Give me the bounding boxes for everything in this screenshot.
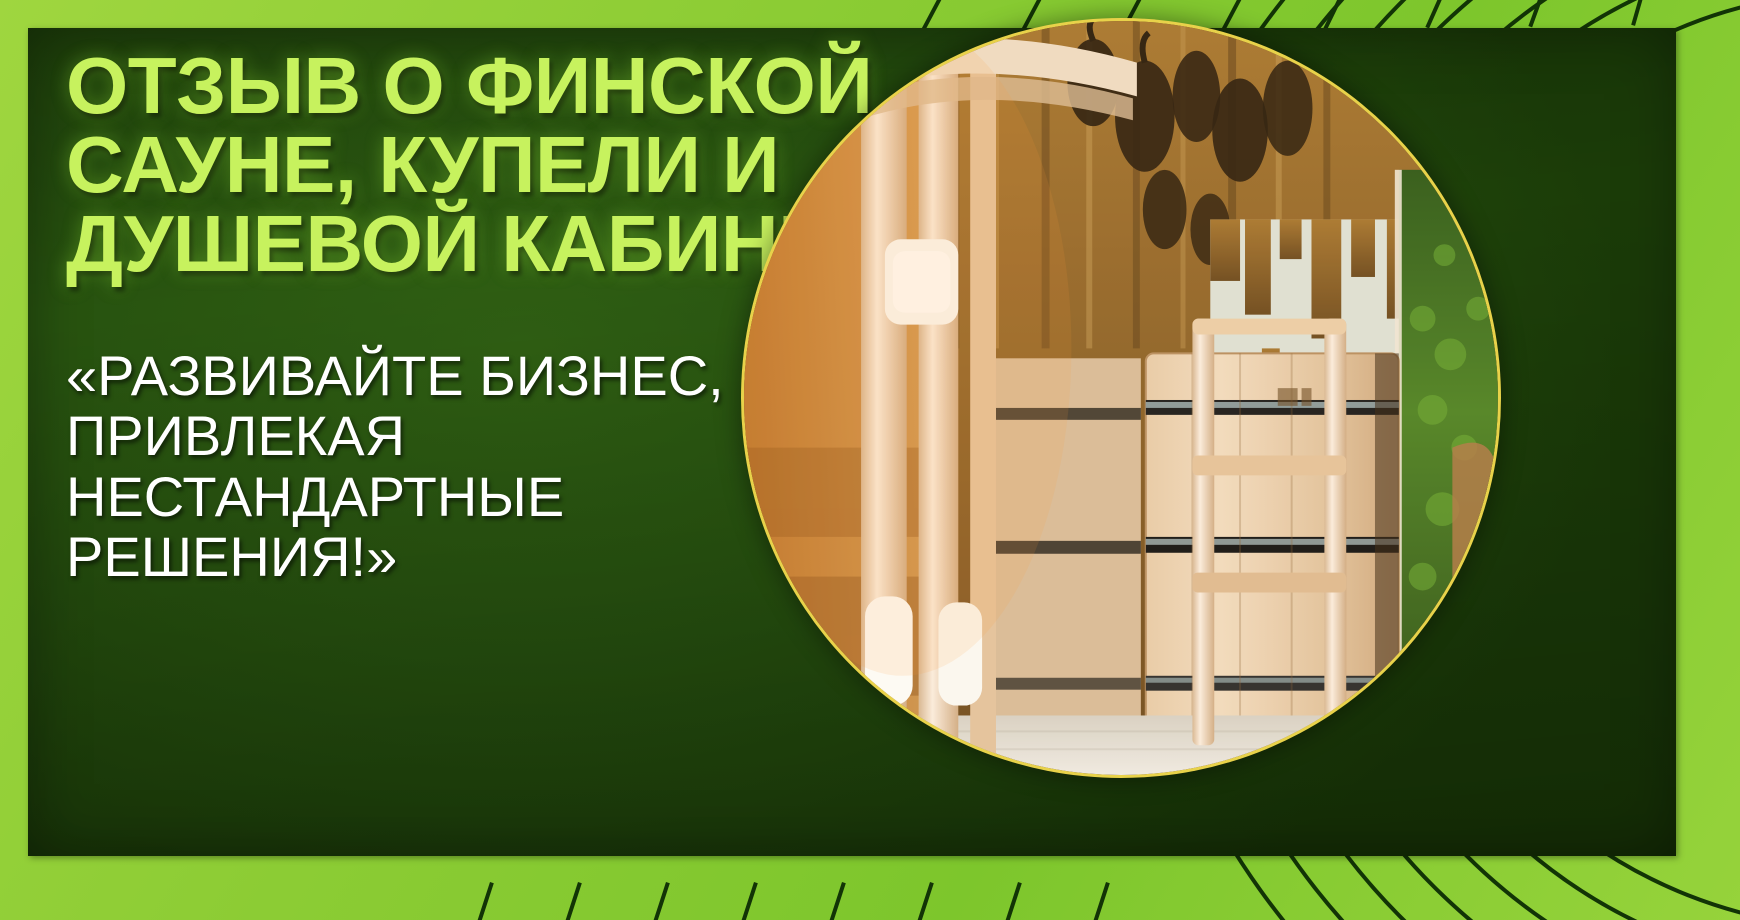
subtitle-line: РЕШЕНИЯ!» (66, 527, 786, 587)
quote-subtitle: «РАЗВИВАЙТЕ БИЗНЕС, ПРИВЛЕКАЯ НЕСТАНДАРТ… (66, 284, 786, 588)
headline-line: ДУШЕВОЙ КАБИНЕ (66, 204, 786, 283)
subtitle-line: НЕСТАНДАРТНЫЕ (66, 467, 786, 527)
photo-ring (741, 18, 1501, 778)
page-title: ОТЗЫВ О ФИНСКОЙ САУНЕ, КУПЕЛИ И ДУШЕВОЙ … (66, 46, 786, 284)
subtitle-line: ПРИВЛЕКАЯ (66, 406, 786, 466)
text-column: ОТЗЫВ О ФИНСКОЙ САУНЕ, КУПЕЛИ И ДУШЕВОЙ … (66, 46, 786, 587)
subtitle-line: «РАЗВИВАЙТЕ БИЗНЕС, (66, 346, 786, 406)
sauna-photo (744, 21, 1498, 775)
promo-banner: ОТЗЫВ О ФИНСКОЙ САУНЕ, КУПЕЛИ И ДУШЕВОЙ … (0, 0, 1740, 920)
headline-line: ОТЗЫВ О ФИНСКОЙ (66, 46, 786, 125)
sauna-photo-illustration (744, 21, 1498, 775)
headline-line: САУНЕ, КУПЕЛИ И (66, 125, 786, 204)
